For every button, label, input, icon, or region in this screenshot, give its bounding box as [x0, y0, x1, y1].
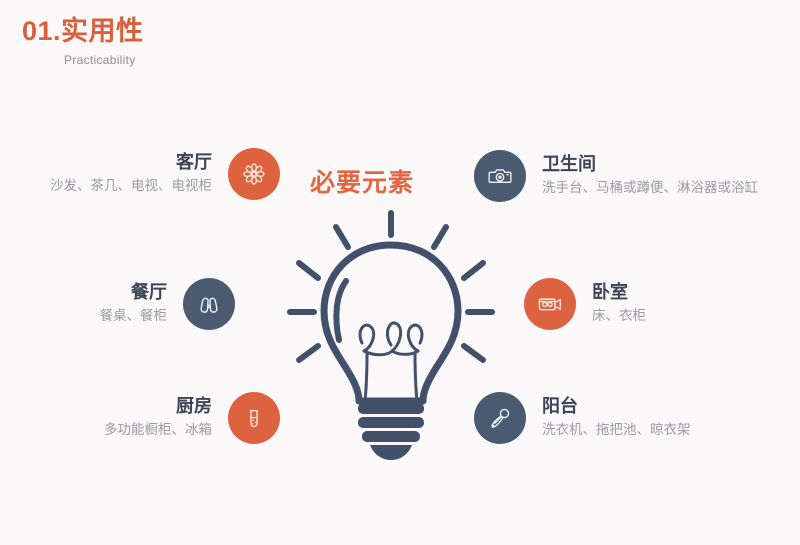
item-balcony[interactable]: 阳台 洗衣机、拖把池、晾衣架 [474, 392, 800, 444]
item-balcony-title: 阳台 [542, 395, 578, 418]
binoculars-icon [196, 291, 222, 317]
camera-icon [487, 163, 513, 189]
item-living-room[interactable]: 客厅 沙发、茶几、电视、电视柜 [0, 148, 280, 200]
item-bedroom-desc: 床、衣柜 [592, 306, 646, 327]
item-living-room-desc: 沙发、茶几、电视、电视柜 [50, 176, 212, 197]
center-heading: 必要元素 [310, 163, 414, 199]
item-living-room-text: 客厅 沙发、茶几、电视、电视柜 [50, 151, 212, 197]
microphone-icon [487, 405, 513, 431]
video-camera-icon [537, 291, 563, 317]
page-title: 01.实用性 [22, 16, 144, 47]
item-bedroom-title: 卧室 [592, 281, 628, 304]
item-bathroom[interactable]: 卫生间 洗手台、马桶或蹲便、淋浴器或浴缸 [474, 150, 800, 202]
item-dining-room[interactable]: 餐厅 餐桌、餐柜 [0, 278, 235, 330]
item-balcony-badge[interactable] [474, 392, 526, 444]
item-bathroom-badge[interactable] [474, 150, 526, 202]
item-dining-room-text: 餐厅 餐桌、餐柜 [100, 281, 168, 327]
item-dining-room-desc: 餐桌、餐柜 [100, 306, 168, 327]
item-kitchen-title: 厨房 [176, 395, 212, 418]
item-kitchen[interactable]: 厨房 多功能橱柜、冰箱 [0, 392, 280, 444]
item-bathroom-text: 卫生间 洗手台、马桶或蹲便、淋浴器或浴缸 [542, 153, 758, 199]
lightbulb-illustration [284, 205, 499, 460]
item-balcony-desc: 洗衣机、拖把池、晾衣架 [542, 420, 691, 441]
item-bedroom[interactable]: 卧室 床、衣柜 [524, 278, 800, 330]
slide-canvas: 01.实用性 Practicability 必要元素 [0, 0, 800, 545]
item-bedroom-badge[interactable] [524, 278, 576, 330]
item-living-room-badge[interactable] [228, 148, 280, 200]
item-kitchen-desc: 多功能橱柜、冰箱 [104, 420, 212, 441]
item-bedroom-text: 卧室 床、衣柜 [592, 281, 646, 327]
item-balcony-text: 阳台 洗衣机、拖把池、晾衣架 [542, 395, 691, 441]
item-kitchen-badge[interactable] [228, 392, 280, 444]
atom-flower-icon [241, 161, 267, 187]
item-bathroom-desc: 洗手台、马桶或蹲便、淋浴器或浴缸 [542, 178, 758, 199]
item-living-room-title: 客厅 [176, 151, 212, 174]
slide-header: 01.实用性 Practicability [22, 16, 144, 67]
page-subtitle: Practicability [22, 53, 144, 67]
item-dining-room-badge[interactable] [183, 278, 235, 330]
item-dining-room-title: 餐厅 [131, 281, 167, 304]
item-bathroom-title: 卫生间 [542, 153, 596, 176]
item-kitchen-text: 厨房 多功能橱柜、冰箱 [104, 395, 212, 441]
test-tube-icon [241, 405, 267, 431]
